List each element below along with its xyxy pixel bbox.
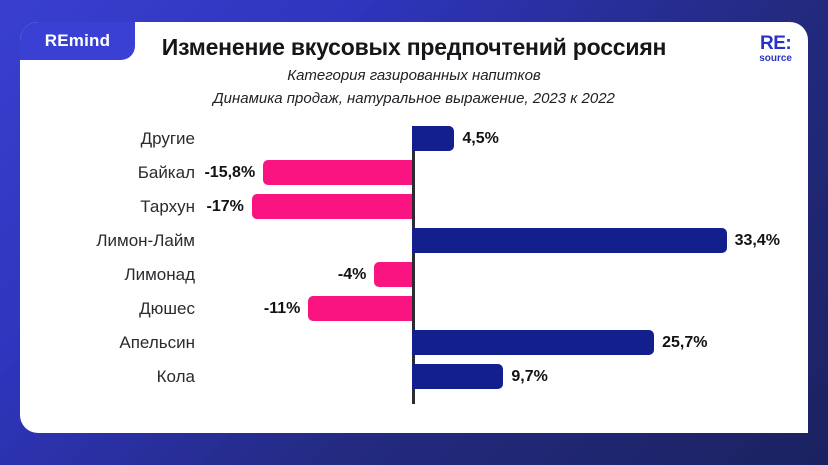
value-label: 33,4% [735, 224, 780, 258]
value-label: 4,5% [462, 122, 498, 156]
bar-row: Апельсин25,7% [20, 326, 808, 360]
chart-slide: REmind RE: source Изменение вкусовых пре… [0, 0, 828, 465]
bar-row: Кола9,7% [20, 360, 808, 394]
bar-chart-plot-area: Другие4,5%Байкал-15,8%Тархун-17%Лимон-Ла… [20, 122, 808, 412]
value-bar [412, 228, 727, 253]
value-bar [412, 364, 503, 389]
bar-row: Дюшес-11% [20, 292, 808, 326]
bar-row: Байкал-15,8% [20, 156, 808, 190]
resource-logo-main: RE: [759, 34, 792, 53]
chart-title: Изменение вкусовых предпочтений россиян [20, 34, 808, 61]
value-bar [412, 330, 654, 355]
chart-subtitle-metric: Динамика продаж, натуральное выражение, … [20, 90, 808, 107]
category-label: Дюшес [20, 292, 195, 326]
value-label: -15,8% [204, 156, 255, 190]
value-label: 25,7% [662, 326, 707, 360]
category-label: Другие [20, 122, 195, 156]
resource-logo: RE: source [759, 34, 792, 64]
category-label: Байкал [20, 156, 195, 190]
value-label: -11% [264, 292, 300, 326]
bar-row: Другие4,5% [20, 122, 808, 156]
value-bar [412, 126, 454, 151]
category-label: Апельсин [20, 326, 195, 360]
chart-subtitle-category: Категория газированных напитков [20, 67, 808, 84]
category-label: Тархун [20, 190, 195, 224]
content-card: REmind RE: source Изменение вкусовых пре… [20, 22, 808, 433]
bar-row: Лимон-Лайм33,4% [20, 224, 808, 258]
bar-row: Тархун-17% [20, 190, 808, 224]
bar-row: Лимонад-4% [20, 258, 808, 292]
value-label: -4% [338, 258, 366, 292]
resource-logo-sub: source [759, 54, 792, 64]
category-label: Кола [20, 360, 195, 394]
category-label: Лимон-Лайм [20, 224, 195, 258]
value-bar [263, 160, 412, 185]
remind-brand-tab[interactable]: REmind [20, 22, 135, 60]
value-bar [308, 296, 412, 321]
value-bar [252, 194, 412, 219]
remind-brand-label: REmind [45, 31, 110, 51]
value-label: 9,7% [511, 360, 547, 394]
value-label: -17% [207, 190, 244, 224]
category-label: Лимонад [20, 258, 195, 292]
value-bar [374, 262, 412, 287]
